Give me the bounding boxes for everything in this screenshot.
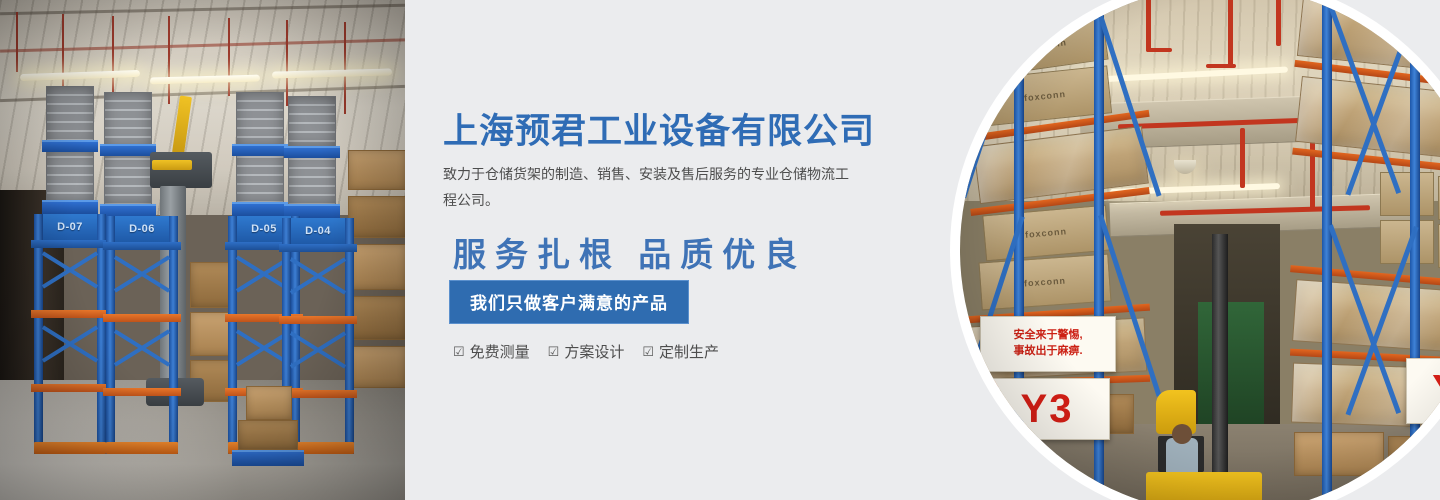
feature-label: 免费测量 [470,341,530,362]
feature-item: ☑ 免费测量 [453,341,530,362]
check-box-icon: ☑ [548,344,560,360]
right-warehouse-photo: foxconn foxconn foxconn foxconn [940,0,1440,500]
slogan: 服务扎根 品质优良 [453,228,806,276]
feature-item: ☑ 方案设计 [548,341,625,362]
check-box-icon: ☑ [642,344,654,360]
photo-vignette [0,0,405,500]
feature-label: 方案设计 [564,341,624,362]
feature-label: 定制生产 [659,341,719,362]
check-box-icon: ☑ [453,344,465,360]
hero-banner: D-07 D-06 D-05 [0,0,1440,500]
banner-content: 上海预君工业设备有限公司 致力于仓储货架的制造、销售、安装及售后服务的专业仓储物… [443,0,943,500]
circular-photo-mask: foxconn foxconn foxconn foxconn [960,0,1440,500]
photo-vignette [960,0,1440,500]
feature-item: ☑ 定制生产 [642,341,719,362]
left-warehouse-photo: D-07 D-06 D-05 [0,0,405,500]
cta-button[interactable]: 我们只做客户满意的产品 [449,280,689,324]
company-description: 致力于仓储货架的制造、销售、安装及售后服务的专业仓储物流工程公司。 [443,162,858,214]
feature-list: ☑ 免费测量 ☑ 方案设计 ☑ 定制生产 [453,341,719,362]
company-title: 上海预君工业设备有限公司 [443,103,875,154]
